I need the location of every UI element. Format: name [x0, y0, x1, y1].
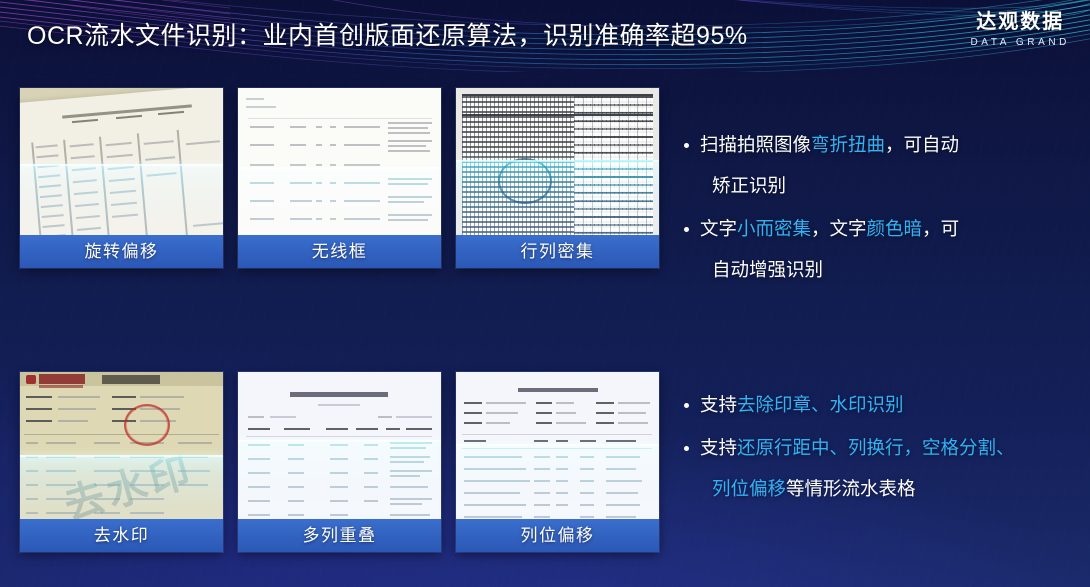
bullet-text-a: 文字 [700, 218, 737, 239]
sample-card-row-bottom: 去水印 去水印 [20, 372, 659, 552]
bullet-text-b: 等情形流水表格 [786, 478, 916, 499]
bullet-text-a: 扫描拍照图像 [700, 134, 811, 155]
bullet-item-distortion: 扫描拍照图像弯折扭曲，可自动 矫正识别 [683, 124, 1073, 206]
bullet-text-a: 支持 [700, 394, 737, 415]
sample-card-rotation-offset[interactable]: 旋转偏移 [20, 88, 223, 268]
sample-card-overlapping-columns[interactable]: 多列重叠 [238, 372, 441, 552]
card-caption: 列位偏移 [456, 519, 659, 552]
bullet-text-a: 支持 [700, 437, 737, 458]
bullet-highlight-distortion: 弯折扭曲 [811, 134, 885, 155]
sample-card-column-shift[interactable]: 列位偏移 [456, 372, 659, 552]
card-caption: 旋转偏移 [20, 235, 223, 268]
bullet-item-restore-layout: 支持还原行距中、列换行，空格分割、 列位偏移等情形流水表格 [683, 427, 1073, 509]
card-caption: 去水印 [20, 519, 223, 552]
sample-card-remove-watermark[interactable]: 去水印 去水印 [20, 372, 223, 552]
bullet-text-c: ，可 [922, 218, 959, 239]
sample-card-row-top: 旋转偏移 [20, 88, 659, 268]
bullet-highlight-small-dense: 小而密集 [737, 218, 811, 239]
sample-card-borderless-table[interactable]: 无线框 [238, 88, 441, 268]
bullet-highlight-remove-seal: 去除印章、水印识别 [737, 394, 904, 415]
bullet-item-small-dense-text: 文字小而密集，文字颜色暗，可 自动增强识别 [683, 208, 1073, 290]
bullet-line2: 矫正识别 [700, 165, 1073, 206]
sample-card-dense-rows-cols[interactable]: 行列密集 [456, 88, 659, 268]
feature-bullet-group-top: 扫描拍照图像弯折扭曲，可自动 矫正识别 文字小而密集，文字颜色暗，可 自动增强识… [683, 124, 1073, 292]
card-caption: 无线框 [238, 235, 441, 268]
logo-english-name: DATA GRAND [970, 38, 1070, 48]
card-caption: 多列重叠 [238, 519, 441, 552]
logo-chinese-name: 达观数据 [970, 12, 1070, 32]
bullet-text-b: ，可自动 [885, 134, 959, 155]
bullet-line2: 自动增强识别 [700, 249, 1073, 290]
feature-bullet-group-bottom: 支持去除印章、水印识别 支持还原行距中、列换行，空格分割、 列位偏移等情形流水表… [683, 384, 1073, 511]
brand-logo: 达观数据 DATA GRAND [970, 12, 1070, 48]
card-caption: 行列密集 [456, 235, 659, 268]
bullet-line2: 列位偏移等情形流水表格 [700, 468, 1073, 509]
bullet-highlight-column-shift: 列位偏移 [712, 478, 786, 499]
bullet-highlight-dark-color: 颜色暗 [867, 218, 923, 239]
bullet-highlight-restore-layout: 还原行距中、列换行，空格分割、 [737, 437, 1015, 458]
bullet-text-b: ，文字 [811, 218, 867, 239]
bullet-item-remove-seal-watermark: 支持去除印章、水印识别 [683, 384, 1073, 425]
page-title: OCR流水文件识别：业内首创版面还原算法，识别准确率超95% [27, 16, 748, 52]
red-seal-icon [124, 404, 170, 446]
